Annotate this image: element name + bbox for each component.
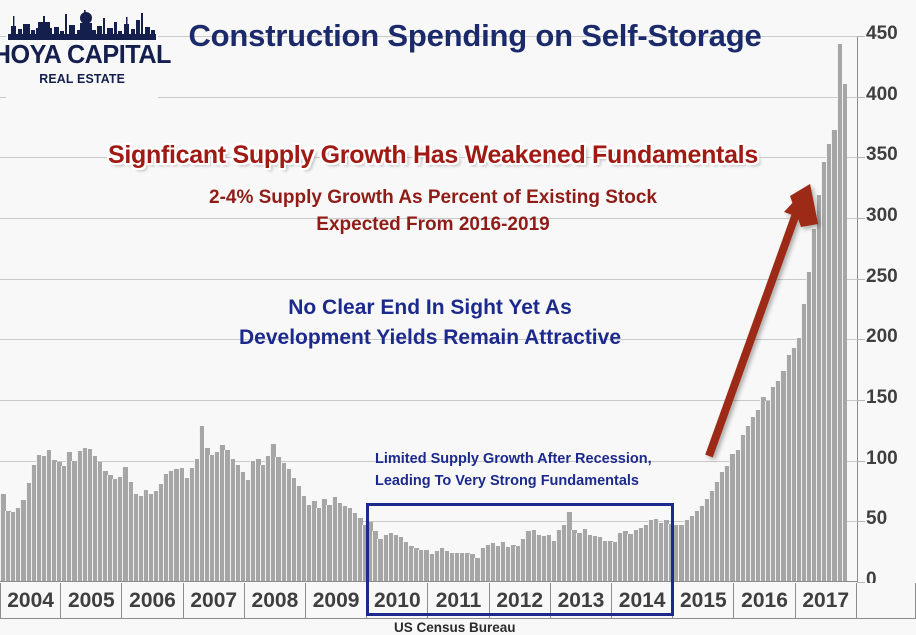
bar-group-2004 (0, 35, 61, 581)
y-tick-mark-400 (857, 97, 865, 98)
bar-group-2006 (122, 35, 183, 581)
annotation-box-label-line1: Limited Supply Growth After Recession, (375, 448, 652, 470)
y-axis: 050100150200250300350400450 (857, 36, 916, 582)
annotation-subhead-line2: Expected From 2016-2019 (178, 212, 688, 239)
y-tick-mark-350 (857, 157, 865, 158)
y-tick-label-350: 350 (857, 144, 916, 166)
y-tick-label-200: 200 (857, 326, 916, 348)
y-tick-label-50: 50 (857, 508, 916, 530)
annotation-box-label-line2: Leading To Very Strong Fundamentals (375, 470, 652, 492)
bar-group-2016 (735, 35, 796, 581)
x-tick-label-2009: 2009 (306, 583, 367, 618)
bar (842, 84, 848, 582)
annotation-subhead-line1: 2-4% Supply Growth As Percent of Existin… (178, 185, 688, 212)
page-title: Construction Spending on Self-Storage (165, 18, 785, 54)
y-tick-mark-50 (857, 521, 865, 522)
x-tick-label-2007: 2007 (184, 583, 245, 618)
y-tick-label-250: 250 (857, 266, 916, 288)
y-tick-label-300: 300 (857, 205, 916, 227)
x-tick-label-2015: 2015 (673, 583, 734, 618)
city-skyline-icon (8, 4, 156, 40)
annotation-blue: No Clear End In Sight Yet As Development… (205, 293, 655, 353)
x-tick-label-2005: 2005 (61, 583, 122, 618)
y-tick-mark-250 (857, 279, 865, 280)
y-tick-label-150: 150 (857, 387, 916, 409)
x-tick-label-2006: 2006 (122, 583, 183, 618)
annotation-box-label: Limited Supply Growth After Recession, L… (375, 448, 652, 492)
x-tick-label-2016: 2016 (734, 583, 795, 618)
highlight-box-2010-2014 (366, 503, 674, 616)
chart-root: HOYA CAPITAL REAL ESTATE Construction Sp… (0, 0, 916, 635)
x-tick-label-2004: 2004 (0, 583, 61, 618)
x-tick-label-2008: 2008 (245, 583, 306, 618)
x-tick-label-2017: 2017 (796, 583, 857, 618)
annotation-headline: Signficant Supply Growth Has Weakened Fu… (108, 141, 758, 170)
y-tick-label-400: 400 (857, 84, 916, 106)
y-tick-label-450: 450 (857, 23, 916, 45)
y-tick-mark-300 (857, 218, 865, 219)
bar-group-2005 (61, 35, 122, 581)
brand-name: HOYA CAPITAL (0, 41, 171, 67)
annotation-subhead: 2-4% Supply Growth As Percent of Existin… (178, 185, 688, 239)
bar-group-2017 (796, 35, 857, 581)
annotation-blue-line1: No Clear End In Sight Yet As (205, 293, 655, 323)
source-label: US Census Bureau (394, 620, 516, 635)
y-tick-mark-100 (857, 461, 865, 462)
brand-logo: HOYA CAPITAL REAL ESTATE (6, 4, 158, 106)
brand-subtitle: REAL ESTATE (39, 71, 125, 86)
x-axis-tail-cell (857, 583, 916, 619)
y-tick-mark-200 (857, 339, 865, 340)
y-tick-label-100: 100 (857, 448, 916, 470)
y-tick-mark-450 (857, 36, 865, 37)
annotation-blue-line2: Development Yields Remain Attractive (205, 323, 655, 353)
y-tick-mark-150 (857, 400, 865, 401)
bar-group-2015 (673, 35, 734, 581)
